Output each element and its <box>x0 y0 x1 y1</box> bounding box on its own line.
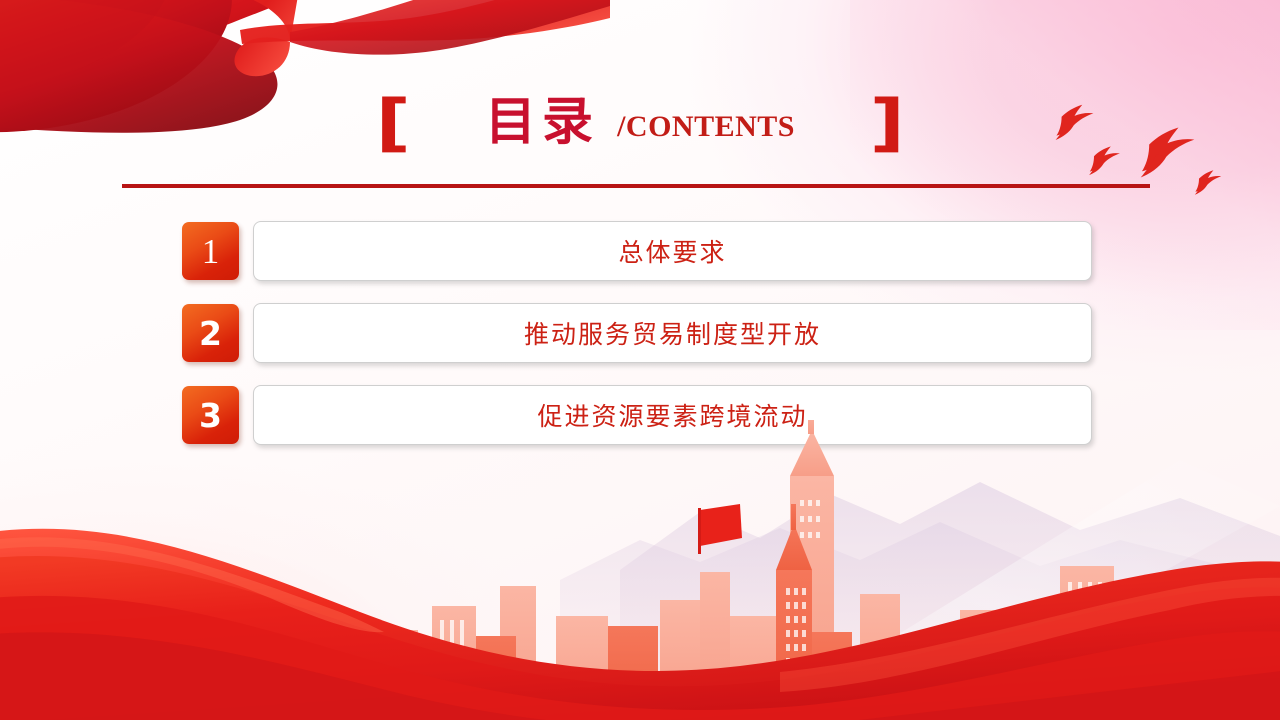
bracket-right-decoration: ] <box>869 92 904 154</box>
contents-item[interactable]: 2 推动服务贸易制度型开放 <box>182 304 1092 362</box>
bottom-scenery <box>0 420 1280 720</box>
contents-number-badge: 2 <box>182 304 239 362</box>
contents-item-label: 推动服务贸易制度型开放 <box>524 315 821 351</box>
page-title: 目录 <box>485 98 599 149</box>
contents-item-label: 总体要求 <box>618 233 726 269</box>
dove-icon <box>1089 146 1120 175</box>
contents-number-badge: 1 <box>182 222 239 280</box>
dove-icon <box>1056 105 1094 140</box>
contents-card[interactable]: 推动服务贸易制度型开放 <box>253 303 1092 363</box>
dove-icon <box>1195 170 1221 195</box>
contents-card[interactable]: 总体要求 <box>253 221 1092 281</box>
contents-item[interactable]: 1 总体要求 <box>182 222 1092 280</box>
bracket-left-decoration: [ <box>375 92 410 154</box>
flying-doves <box>1025 95 1255 195</box>
page-title-english: /CONTENTS <box>617 112 795 142</box>
presentation-slide: [ 目录 /CONTENTS ] 1 <box>0 0 1280 720</box>
title-divider <box>122 184 1150 188</box>
dove-icon <box>1141 127 1195 177</box>
